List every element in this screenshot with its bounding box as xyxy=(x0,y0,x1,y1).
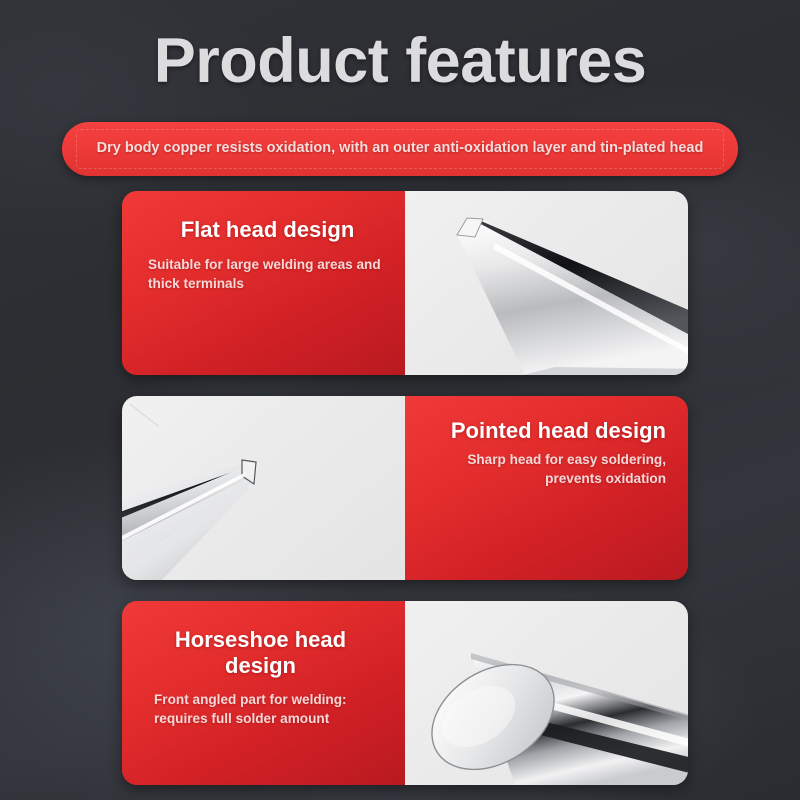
page-title: Product features xyxy=(0,30,800,93)
card-title: Pointed head design xyxy=(427,418,666,444)
feature-banner: Dry body copper resists oxidation, with … xyxy=(62,122,738,176)
horseshoe-bevel-soldering-tip-icon xyxy=(405,601,688,785)
feature-card-pointed-head: Pointed head design Sharp head for easy … xyxy=(122,396,688,580)
card-title: Horseshoe head design xyxy=(144,627,383,678)
card-text-panel: Flat head design Suitable for large weld… xyxy=(122,191,405,375)
feature-card-horseshoe-head: Horseshoe head design Front angled part … xyxy=(122,601,688,785)
card-photo-panel xyxy=(122,396,405,580)
card-photo-panel xyxy=(405,601,688,785)
feature-card-flat-head: Flat head design Suitable for large weld… xyxy=(122,191,688,375)
banner-text: Dry body copper resists oxidation, with … xyxy=(80,138,720,159)
card-photo-panel xyxy=(405,191,688,375)
flat-chisel-soldering-tip-icon xyxy=(405,191,688,375)
card-body: Suitable for large welding areas and thi… xyxy=(144,255,383,294)
card-text-panel: Pointed head design Sharp head for easy … xyxy=(405,396,688,580)
card-body: Front angled part for welding: requires … xyxy=(144,690,383,729)
card-text-panel: Horseshoe head design Front angled part … xyxy=(122,601,405,785)
infographic-page: Product features Dry body copper resists… xyxy=(0,0,800,800)
card-body: Sharp head for easy soldering, prevents … xyxy=(427,450,666,489)
pointed-conical-soldering-tip-icon xyxy=(122,396,405,580)
card-title: Flat head design xyxy=(144,217,383,243)
